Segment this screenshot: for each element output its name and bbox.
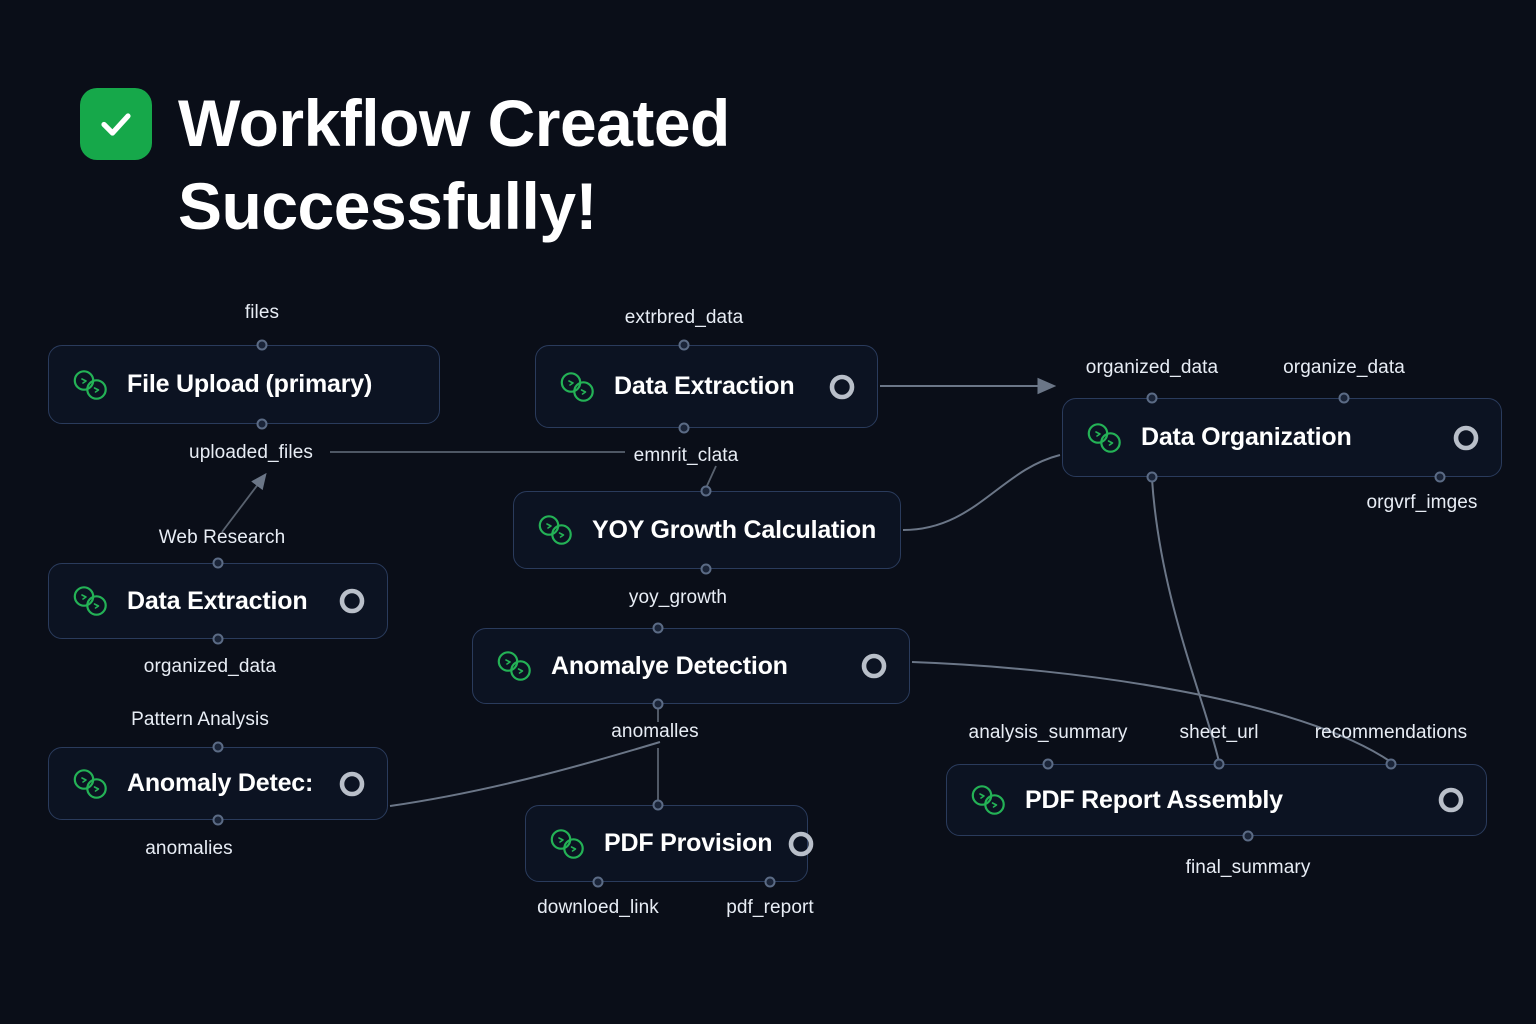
chain-links-icon-wrap — [969, 783, 1009, 817]
node-label: YOY Growth Calculation — [592, 516, 876, 545]
node-primary-tag: (primary) — [266, 370, 373, 399]
port-label-sheet-url: sheet_url — [1179, 722, 1258, 744]
node-status-icon-wrap[interactable] — [861, 653, 887, 679]
port-label-anomalies: anomalies — [145, 838, 233, 860]
port-org-out-left[interactable] — [1147, 472, 1158, 483]
port-pdf-prov-in[interactable] — [653, 800, 664, 811]
chain-links-icon — [71, 767, 111, 801]
port-label-organize-data: organize_data — [1283, 357, 1405, 379]
ring-status-icon[interactable] — [788, 831, 814, 857]
port-anom-in[interactable] — [653, 623, 664, 634]
port-label-pdf-report: pdf_report — [726, 897, 814, 919]
chain-links-icon-wrap — [548, 827, 588, 861]
node-label: PDF Report Assembly — [1025, 786, 1283, 815]
port-analysis-summary[interactable] — [1043, 759, 1054, 770]
chain-links-icon — [71, 368, 111, 402]
node-data-extraction-left[interactable]: Data Extraction — [48, 563, 388, 639]
ring-status-icon[interactable] — [1453, 425, 1479, 451]
port-yoy-in[interactable] — [701, 486, 712, 497]
chain-links-icon-wrap — [536, 513, 576, 547]
port-label-files: files — [245, 302, 279, 324]
port-label-web-research: Web Research — [159, 527, 286, 549]
node-label: Data Organization — [1141, 423, 1352, 452]
port-emnrit-clata[interactable] — [679, 423, 690, 434]
port-label-organized-data-top: organized_data — [1086, 357, 1218, 379]
chain-links-icon — [1085, 421, 1125, 455]
port-anom-out[interactable] — [653, 699, 664, 710]
port-organized-data[interactable] — [1147, 393, 1158, 404]
port-label-organized-data-left: organized_data — [144, 656, 276, 678]
port-sheet-url[interactable] — [1214, 759, 1225, 770]
chain-links-icon — [495, 649, 535, 683]
port-uploaded-files[interactable] — [257, 419, 268, 430]
node-pdf-report-assembly[interactable]: PDF Report Assembly — [946, 764, 1487, 836]
ring-status-icon[interactable] — [339, 771, 365, 797]
node-anomalye-detection[interactable]: Anomalye Detection — [472, 628, 910, 704]
node-status-icon-wrap[interactable] — [788, 831, 814, 857]
port-final-summary[interactable] — [1243, 831, 1254, 842]
node-status-icon-wrap[interactable] — [339, 771, 365, 797]
node-data-extraction-top[interactable]: Data Extraction — [535, 345, 878, 428]
port-files[interactable] — [257, 340, 268, 351]
node-graph[interactable]: File Upload (primary)Data ExtractionData… — [0, 0, 1536, 1024]
port-org-out-right[interactable] — [1435, 472, 1446, 483]
port-label-final-summary: final_summary — [1186, 857, 1311, 879]
port-label-extrbred-data: extrbred_data — [625, 307, 744, 329]
node-status-icon-wrap[interactable] — [1453, 425, 1479, 451]
node-label: Anomaly Detec: — [127, 769, 313, 798]
node-data-organization[interactable]: Data Organization — [1062, 398, 1502, 477]
node-label: Data Extraction — [614, 372, 794, 401]
node-label: File Upload — [127, 370, 260, 399]
port-label-yoy-growth-out: yoy_growth — [629, 587, 727, 609]
port-label-orgvrf-imges: orgvrf_imges — [1366, 492, 1477, 514]
chain-links-icon — [71, 584, 111, 618]
port-label-pattern-analysis: Pattern Analysis — [131, 709, 269, 731]
node-label: Data Extraction — [127, 587, 307, 616]
chain-links-icon — [969, 783, 1009, 817]
port-pdf-prov-out1[interactable] — [593, 877, 604, 888]
ring-status-icon[interactable] — [829, 374, 855, 400]
ring-status-icon[interactable] — [1438, 787, 1464, 813]
port-organize-data[interactable] — [1339, 393, 1350, 404]
node-status-icon-wrap[interactable] — [339, 588, 365, 614]
port-label-recommendations: recommendations — [1315, 722, 1468, 744]
port-organized-left[interactable] — [213, 634, 224, 645]
node-yoy-growth[interactable]: YOY Growth Calculation — [513, 491, 901, 569]
ring-status-icon[interactable] — [861, 653, 887, 679]
chain-links-icon-wrap — [71, 767, 111, 801]
node-status-icon-wrap[interactable] — [829, 374, 855, 400]
port-label-uploaded-files: uploaded_files — [189, 442, 313, 464]
node-label: PDF Provision — [604, 829, 772, 858]
chain-links-icon-wrap — [495, 649, 535, 683]
node-anomaly-detection-left[interactable]: Anomaly Detec: — [48, 747, 388, 820]
port-label-analysis-summary: analysis_summary — [969, 722, 1128, 744]
port-pattern-analysis[interactable] — [213, 742, 224, 753]
port-label-anomalles: anomalles — [611, 721, 699, 743]
port-anomalies[interactable] — [213, 815, 224, 826]
chain-links-icon-wrap — [71, 584, 111, 618]
chain-links-icon-wrap — [1085, 421, 1125, 455]
port-label-downloed-link: downloed_link — [537, 897, 659, 919]
node-file-upload[interactable]: File Upload (primary) — [48, 345, 440, 424]
port-pdf-prov-out2[interactable] — [765, 877, 776, 888]
port-extrbred-data[interactable] — [679, 340, 690, 351]
node-label: Anomalye Detection — [551, 652, 788, 681]
workflow-canvas-screen: Workflow Created Successfully! — [0, 0, 1536, 1024]
chain-links-icon — [558, 370, 598, 404]
chain-links-icon-wrap — [71, 368, 111, 402]
node-pdf-provision[interactable]: PDF Provision — [525, 805, 808, 882]
port-web-research[interactable] — [213, 558, 224, 569]
port-yoy-out[interactable] — [701, 564, 712, 575]
chain-links-icon-wrap — [558, 370, 598, 404]
node-status-icon-wrap[interactable] — [1438, 787, 1464, 813]
chain-links-icon — [548, 827, 588, 861]
port-recommendations[interactable] — [1386, 759, 1397, 770]
port-label-emnrit-clata: emnrit_clata — [634, 445, 739, 467]
ring-status-icon[interactable] — [339, 588, 365, 614]
chain-links-icon — [536, 513, 576, 547]
